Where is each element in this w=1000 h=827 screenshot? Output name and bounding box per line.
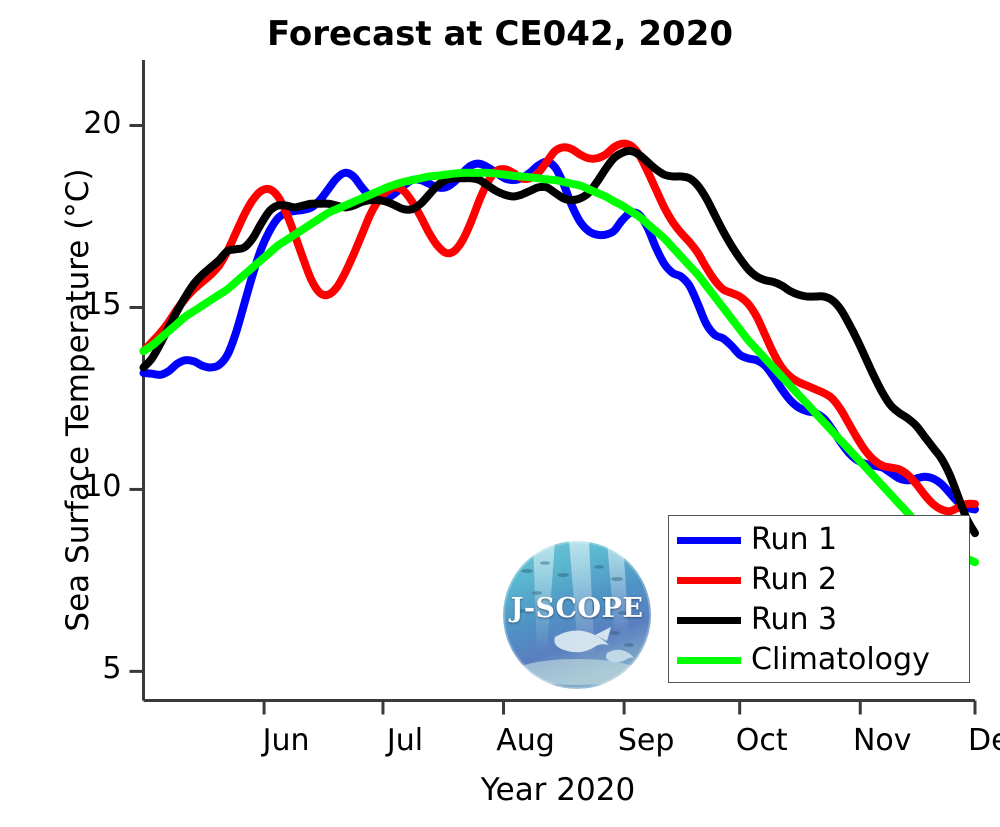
legend-label: Run 1 xyxy=(751,525,837,555)
y-tick-label: 20 xyxy=(52,106,122,141)
x-tick-label: Aug xyxy=(471,723,581,758)
data-series-group xyxy=(144,144,976,563)
legend-item-run-2[interactable]: Run 2 xyxy=(677,560,837,600)
x-tick-label: Sep xyxy=(591,723,701,758)
series-line-run-3 xyxy=(144,151,976,533)
x-tick-label: Oct xyxy=(707,723,817,758)
legend-label: Run 2 xyxy=(751,565,837,595)
plot-area xyxy=(0,0,1000,827)
legend-item-run-3[interactable]: Run 3 xyxy=(677,600,837,640)
y-tick-label: 15 xyxy=(52,287,122,322)
legend-label: Run 3 xyxy=(751,605,837,635)
logo-text: J-SCOPE xyxy=(503,593,651,624)
y-axis-label: Sea Surface Temperature (°C) xyxy=(60,90,96,710)
x-tick-label: Nov xyxy=(827,723,937,758)
x-axis-label: Year 2020 xyxy=(143,772,973,808)
legend-swatch-icon xyxy=(677,657,741,664)
x-tick-label: Dec xyxy=(942,723,1000,758)
x-tick-marks xyxy=(264,701,975,715)
x-tick-label: Jul xyxy=(350,723,460,758)
legend-item-run-1[interactable]: Run 1 xyxy=(677,520,837,560)
y-tick-marks xyxy=(130,126,144,672)
legend-label: Climatology xyxy=(751,645,930,675)
chart-figure: Forecast at CE042, 2020 Sea Surface Temp… xyxy=(0,0,1000,827)
legend-item-climatology[interactable]: Climatology xyxy=(677,640,930,680)
legend-swatch-icon xyxy=(677,617,741,624)
legend-swatch-icon xyxy=(677,537,741,544)
chart-legend[interactable]: Run 1Run 2Run 3Climatology xyxy=(668,515,970,683)
y-tick-label: 10 xyxy=(52,469,122,504)
legend-swatch-icon xyxy=(677,577,741,584)
y-tick-label: 5 xyxy=(52,651,122,686)
j-scope-logo: J-SCOPE xyxy=(503,541,651,689)
x-tick-label: Jun xyxy=(231,723,341,758)
